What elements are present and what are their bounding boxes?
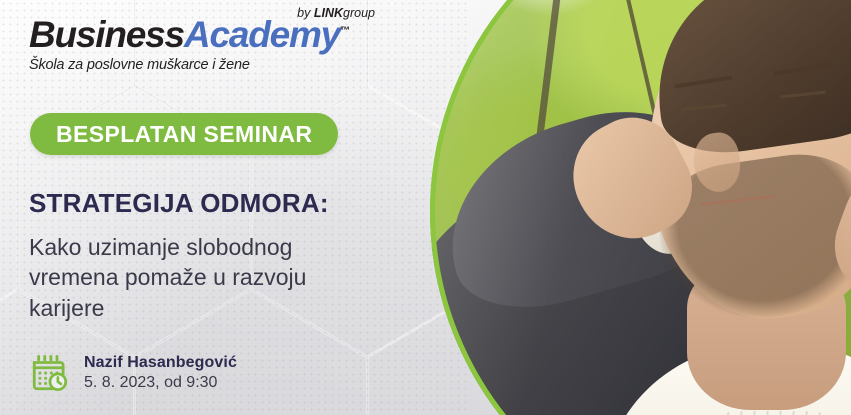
brand-name-business: Business [29, 14, 184, 55]
presenter-text-block: Nazif Hasanbegović 5. 8. 2023, od 9:30 [84, 354, 237, 392]
calendar-clock-icon [29, 352, 71, 394]
person-figure [430, 0, 851, 415]
brand-name-academy: Academy [184, 14, 340, 55]
brand-by-linkgroup: by LINKgroup [297, 6, 375, 20]
seminar-promo-banner: by LINKgroup BusinessAcademy™ Škola za p… [0, 0, 851, 415]
subheadline-line-3: karijere [29, 293, 389, 323]
hair [644, 0, 851, 162]
brand-by-prefix: by [297, 6, 314, 20]
free-seminar-badge-label: BESPLATAN SEMINAR [56, 121, 312, 148]
brand-by-rest: group [343, 6, 375, 20]
presenter-datetime: 5. 8. 2023, od 9:30 [84, 374, 237, 392]
brand-logo: by LINKgroup BusinessAcademy™ Škola za p… [29, 16, 389, 73]
brand-wordmark: BusinessAcademy™ [29, 16, 389, 53]
free-seminar-badge: BESPLATAN SEMINAR [30, 113, 338, 155]
subheadline-line-2: vremena pomaže u razvoju [29, 262, 389, 292]
seminar-headline: STRATEGIJA ODMORA: [29, 188, 329, 219]
trademark-icon: ™ [340, 26, 350, 37]
brand-tagline: Škola za poslovne muškarce i žene [29, 57, 389, 73]
brand-by-bold: LINK [314, 6, 343, 20]
hero-photo [430, 0, 851, 415]
subheadline-line-1: Kako uzimanje slobodnog [29, 232, 389, 262]
presenter-info: Nazif Hasanbegović 5. 8. 2023, od 9:30 [29, 352, 237, 394]
presenter-name: Nazif Hasanbegović [84, 354, 237, 372]
seminar-subheadline: Kako uzimanje slobodnog vremena pomaže u… [29, 232, 389, 323]
content-column: by LINKgroup BusinessAcademy™ Škola za p… [0, 0, 430, 415]
